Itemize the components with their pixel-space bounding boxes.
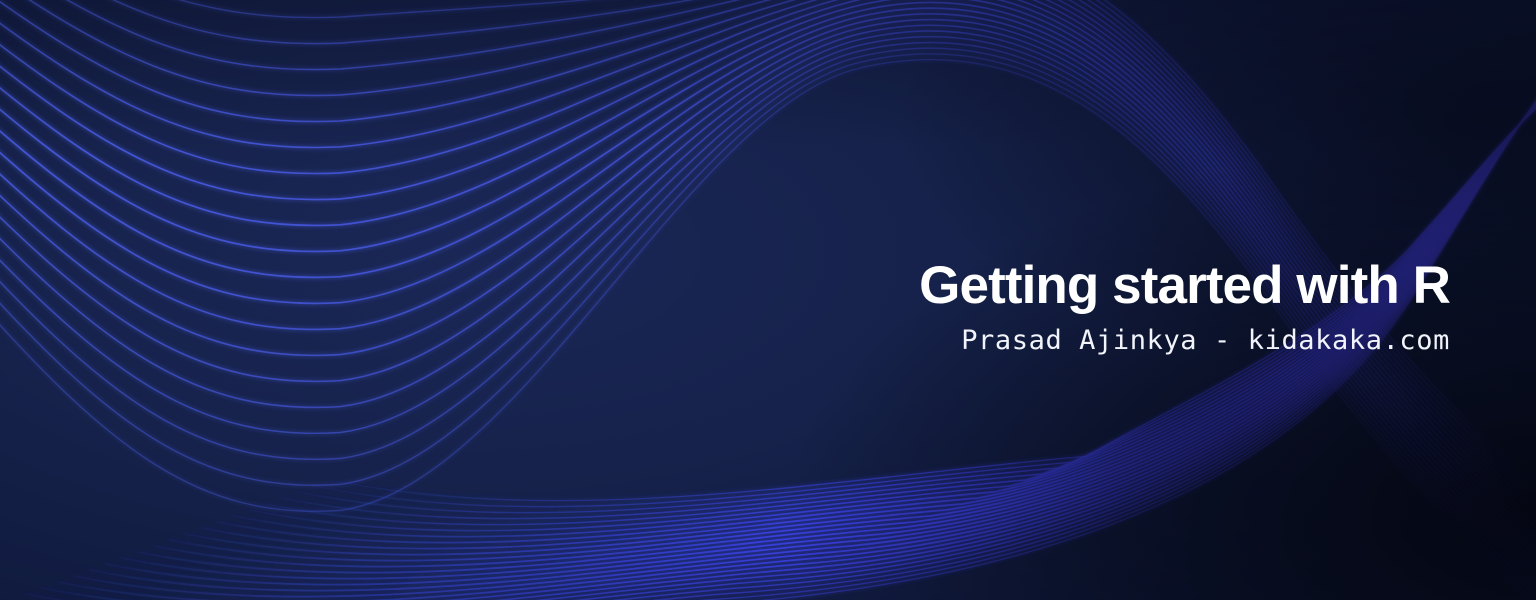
slide-subtitle: Prasad Ajinkya - kidakaka.com [919, 326, 1450, 356]
slide-title: Getting started with R [919, 258, 1450, 314]
title-text-block: Getting started with R Prasad Ajinkya - … [919, 258, 1450, 356]
title-slide: Getting started with R Prasad Ajinkya - … [0, 0, 1536, 600]
